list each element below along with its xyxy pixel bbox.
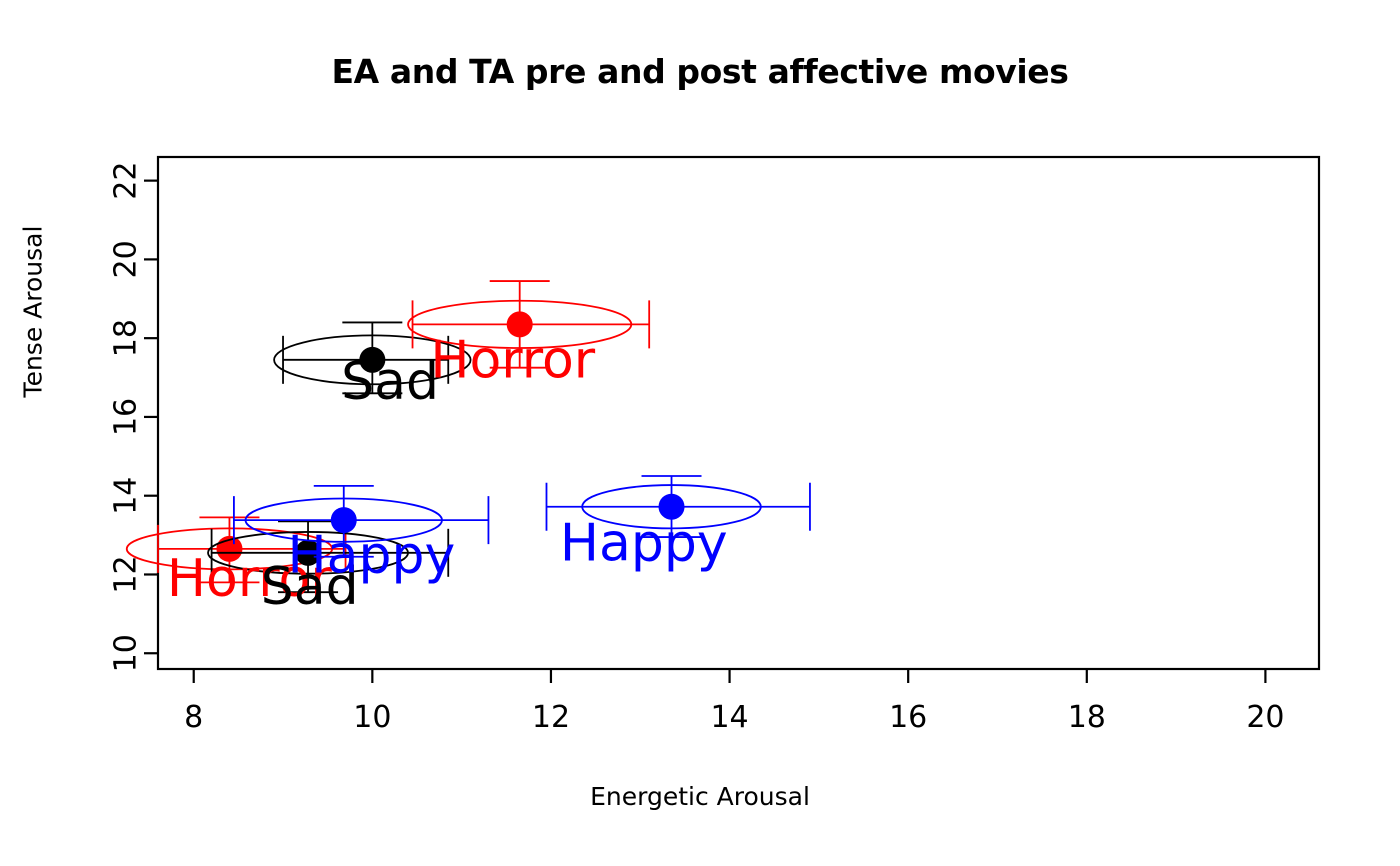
x-tick-label: 8 (184, 700, 203, 735)
axes-layer: 810121416182010121416182022 (109, 157, 1320, 735)
y-tick-label: 10 (109, 634, 144, 672)
y-tick-label: 20 (109, 240, 144, 278)
group-label: Horror (430, 331, 595, 391)
x-tick-label: 20 (1246, 700, 1284, 735)
annotation-layer: SadHorrorHorrorSadHappyHappy (167, 331, 728, 617)
y-tick-label: 16 (109, 398, 144, 436)
y-tick-label: 14 (109, 477, 144, 515)
x-tick-label: 10 (353, 700, 391, 735)
x-tick-label: 16 (889, 700, 927, 735)
y-tick-label: 18 (109, 319, 144, 357)
group-label: Happy (287, 526, 455, 586)
x-tick-label: 12 (532, 700, 570, 735)
scatter-plot: 810121416182010121416182022 SadHorrorHor… (0, 0, 1400, 866)
chart-canvas: EA and TA pre and post affective movies … (0, 0, 1400, 866)
group-label: Happy (560, 514, 728, 574)
y-tick-label: 22 (109, 162, 144, 200)
x-tick-label: 14 (710, 700, 748, 735)
x-tick-label: 18 (1068, 700, 1106, 735)
group-label: Sad (341, 352, 439, 412)
y-tick-label: 12 (109, 555, 144, 593)
